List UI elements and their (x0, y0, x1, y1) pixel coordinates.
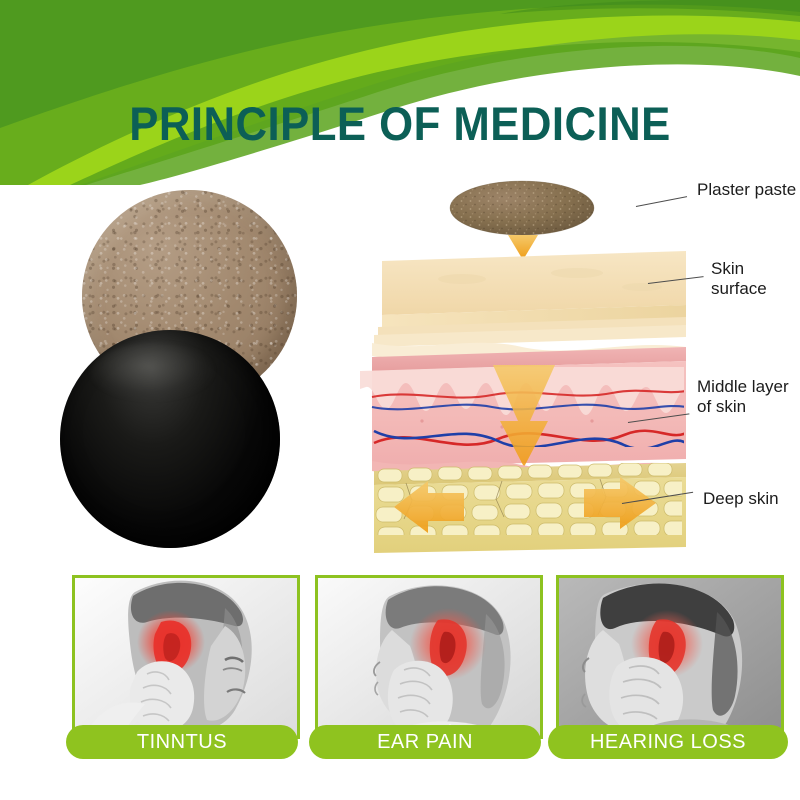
page-title: PRINCIPLE OF MEDICINE (28, 96, 772, 152)
symptom-card-ear-pain[interactable]: EAR PAIN (315, 575, 543, 739)
symptom-card-hearing-loss[interactable]: HEARING LOSS (556, 575, 784, 739)
skin-surface-layer (372, 251, 686, 364)
symptom-caption-ear-pain: EAR PAIN (309, 725, 541, 759)
middle-skin-layer (360, 347, 686, 478)
symptom-card-tinntus[interactable]: TINNTUS (72, 575, 300, 739)
infographic-page: PRINCIPLE OF MEDICINE (0, 0, 800, 800)
symptom-photo-ear-pain (315, 575, 543, 739)
header-wave-decoration (0, 0, 800, 185)
product-patch-group (60, 180, 350, 550)
label-plaster-paste: Plaster paste (697, 180, 797, 200)
symptom-caption-tinntus: TINNTUS (66, 725, 298, 759)
black-plaster-patch (60, 330, 280, 548)
label-middle-layer-of-skin: Middle layer of skin (697, 377, 797, 417)
symptom-caption-hearing-loss: HEARING LOSS (548, 725, 788, 759)
skin-cross-section-diagram (352, 175, 692, 565)
symptom-photo-hearing-loss (556, 575, 784, 739)
label-skin-surface: Skin surface (711, 259, 800, 299)
symptom-card-group: TINNTUS (0, 575, 800, 775)
deep-skin-layer (374, 463, 688, 553)
symptom-photo-tinntus (72, 575, 300, 739)
label-deep-skin: Deep skin (703, 489, 798, 509)
plaster-paste-graphic (450, 181, 594, 235)
